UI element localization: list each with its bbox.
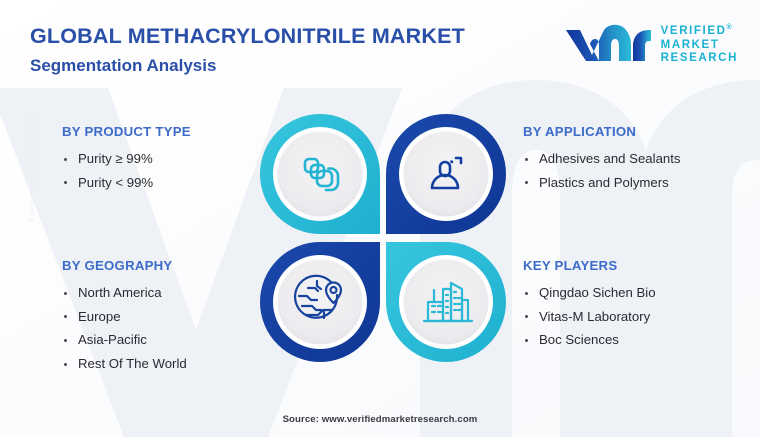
segment-list-key-players: Qingdao Sichen Bio Vitas-M Laboratory Bo… <box>523 282 738 352</box>
logo-line-verified: VERIFIED® <box>661 24 738 38</box>
segmentation-quad-graphic <box>258 112 508 364</box>
quad-key-players[interactable] <box>386 242 506 362</box>
quad-product-type[interactable] <box>260 114 380 234</box>
source-footer: Source: www.verifiedmarketresearch.com <box>0 414 760 425</box>
logo-wordmark: VERIFIED® MARKET RESEARCH <box>661 24 738 66</box>
segment-key-players: KEY PLAYERS Qingdao Sichen Bio Vitas-M L… <box>523 258 738 353</box>
segment-title-geography: BY GEOGRAPHY <box>62 258 277 273</box>
segment-title-application: BY APPLICATION <box>523 124 738 139</box>
segment-list-geography: North America Europe Asia-Pacific Rest O… <box>62 282 277 376</box>
list-item: North America <box>62 282 277 305</box>
segment-product-type: BY PRODUCT TYPE Purity ≥ 99% Purity < 99… <box>62 124 277 195</box>
segment-list-product-type: Purity ≥ 99% Purity < 99% <box>62 148 277 194</box>
side-copyright-watermark: © www.verifiedmarketresearch.com <box>29 89 36 249</box>
list-item: Purity ≥ 99% <box>62 148 277 171</box>
list-item: Plastics and Polymers <box>523 172 738 195</box>
quad-geography[interactable] <box>260 242 380 362</box>
logo-line-market: MARKET <box>661 39 738 53</box>
list-item: Qingdao Sichen Bio <box>523 282 738 305</box>
list-item: Vitas-M Laboratory <box>523 306 738 329</box>
segment-title-key-players: KEY PLAYERS <box>523 258 738 273</box>
brand-logo: VERIFIED® MARKET RESEARCH <box>563 24 738 66</box>
list-item: Purity < 99% <box>62 172 277 195</box>
page-subtitle: Segmentation Analysis <box>30 56 530 76</box>
segment-application: BY APPLICATION Adhesives and Sealants Pl… <box>523 124 738 195</box>
header: GLOBAL METHACRYLONITRILE MARKET Segmenta… <box>30 24 530 75</box>
segment-list-application: Adhesives and Sealants Plastics and Poly… <box>523 148 738 194</box>
list-item: Europe <box>62 306 277 329</box>
vmr-monogram-icon <box>563 24 651 66</box>
segment-title-product-type: BY PRODUCT TYPE <box>62 124 277 139</box>
list-item: Rest Of The World <box>62 353 277 376</box>
list-item: Asia-Pacific <box>62 329 277 352</box>
quad-application[interactable] <box>386 114 506 234</box>
registered-mark-icon: ® <box>727 24 732 31</box>
infographic-canvas: © www.verifiedmarketresearch.com GLOBAL … <box>0 0 760 437</box>
list-item: Boc Sciences <box>523 329 738 352</box>
segment-geography: BY GEOGRAPHY North America Europe Asia-P… <box>62 258 277 377</box>
logo-line-research: RESEARCH <box>661 52 738 66</box>
list-item: Adhesives and Sealants <box>523 148 738 171</box>
page-title: GLOBAL METHACRYLONITRILE MARKET <box>30 24 530 49</box>
